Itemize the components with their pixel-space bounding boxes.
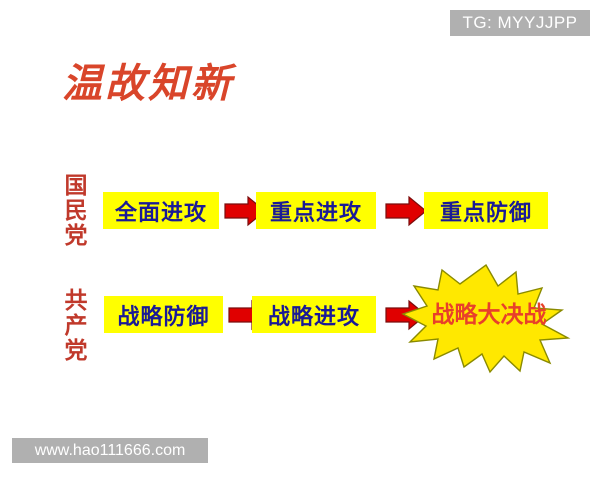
- stage-box-r2-1[interactable]: 战略防御: [104, 296, 223, 333]
- tg-watermark-badge: TG: MYYJJPP: [450, 10, 590, 36]
- party-label-communist-party: 共产党: [60, 283, 86, 367]
- slide-canvas: TG: MYYJJPP 温故知新 国民党 全面进攻 重点进攻 重点防御 共产党 …: [0, 0, 600, 480]
- site-watermark: www.hao111666.com: [12, 438, 208, 463]
- arrow-right-icon: [385, 195, 427, 227]
- starburst-label: 战略大决战: [396, 298, 582, 332]
- party-label-kuomintang: 国民党: [60, 168, 86, 252]
- page-title: 温故知新: [62, 60, 234, 108]
- stage-box-r1-1[interactable]: 全面进攻: [103, 192, 219, 229]
- stage-box-r1-2[interactable]: 重点进攻: [256, 192, 376, 229]
- stage-box-r1-3[interactable]: 重点防御: [424, 192, 548, 229]
- stage-box-r2-2[interactable]: 战略进攻: [252, 296, 376, 333]
